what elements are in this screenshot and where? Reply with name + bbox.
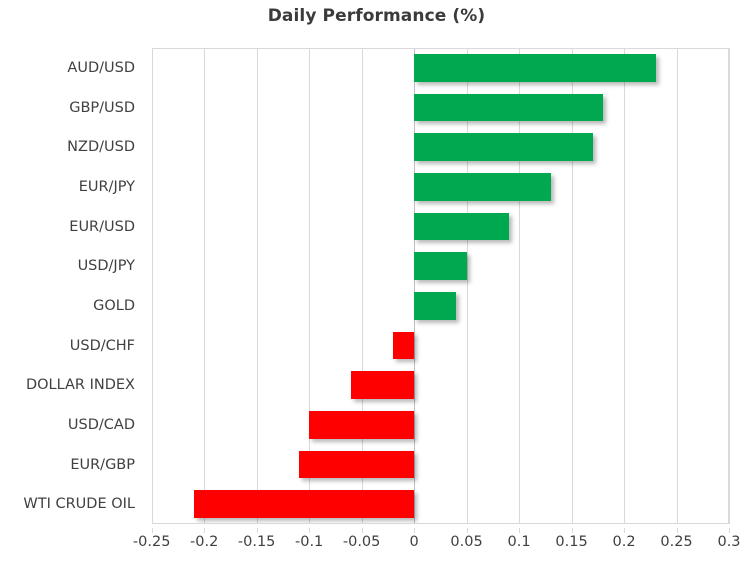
x-tick-mark — [257, 528, 258, 533]
x-tick-mark — [309, 528, 310, 533]
category-axis-labels: AUD/USDGBP/USDNZD/USDEUR/JPYEUR/USDUSD/J… — [0, 48, 143, 524]
bar-aud-usd[interactable] — [414, 54, 655, 82]
bar-gold[interactable] — [414, 292, 456, 320]
bar-gbp-usd[interactable] — [414, 94, 603, 122]
category-label-nzd-usd: NZD/USD — [0, 140, 135, 155]
x-tick-label: 0.05 — [450, 534, 482, 550]
bar-row — [152, 451, 729, 479]
bar-row — [152, 411, 729, 439]
bar-row — [152, 371, 729, 399]
x-tick-label: 0.1 — [508, 534, 531, 550]
bar-row — [152, 54, 729, 82]
x-tick-label: -0.15 — [238, 534, 276, 550]
bar-row — [152, 94, 729, 122]
x-tick-mark — [414, 528, 415, 533]
x-tick-mark — [729, 528, 730, 533]
category-label-gold: GOLD — [0, 299, 135, 314]
x-tick-mark — [204, 528, 205, 533]
bar-wti-crude-oil[interactable] — [194, 490, 414, 518]
x-tick-label: 0.25 — [660, 534, 692, 550]
x-tick-mark — [624, 528, 625, 533]
x-tick-mark — [519, 528, 520, 533]
category-label-aud-usd: AUD/USD — [0, 61, 135, 76]
daily-performance-bar-chart: Daily Performance (%) AUD/USDGBP/USDNZD/… — [0, 0, 753, 568]
x-axis-tick-labels: -0.25-0.2-0.15-0.1-0.0500.050.10.150.20.… — [0, 528, 753, 558]
bar-row — [152, 490, 729, 518]
bar-dollar-index[interactable] — [351, 371, 414, 399]
bar-row — [152, 292, 729, 320]
x-tick-label: 0.3 — [717, 534, 740, 550]
gridline — [729, 48, 730, 524]
category-label-wti-crude-oil: WTI CRUDE OIL — [0, 497, 135, 512]
x-tick-mark — [362, 528, 363, 533]
x-tick-label: 0.15 — [555, 534, 587, 550]
x-tick-label: -0.2 — [190, 534, 218, 550]
bar-row — [152, 213, 729, 241]
category-label-eur-jpy: EUR/JPY — [0, 180, 135, 195]
x-tick-label: 0 — [409, 534, 418, 550]
bar-row — [152, 332, 729, 360]
bar-eur-usd[interactable] — [414, 213, 508, 241]
category-label-usd-cad: USD/CAD — [0, 418, 135, 433]
x-tick-label: -0.05 — [343, 534, 381, 550]
category-label-gbp-usd: GBP/USD — [0, 101, 135, 116]
x-tick-label: 0.2 — [613, 534, 636, 550]
x-tick-mark — [572, 528, 573, 533]
bar-row — [152, 133, 729, 161]
bar-usd-jpy[interactable] — [414, 252, 466, 280]
bar-row — [152, 252, 729, 280]
category-label-usd-jpy: USD/JPY — [0, 259, 135, 274]
category-label-usd-chf: USD/CHF — [0, 339, 135, 354]
bar-usd-cad[interactable] — [309, 411, 414, 439]
bar-row — [152, 173, 729, 201]
plot-area — [152, 48, 729, 524]
category-label-dollar-index: DOLLAR INDEX — [0, 378, 135, 393]
bar-usd-chf[interactable] — [393, 332, 414, 360]
bar-eur-gbp[interactable] — [299, 451, 414, 479]
bar-nzd-usd[interactable] — [414, 133, 592, 161]
x-tick-label: -0.1 — [295, 534, 323, 550]
bar-eur-jpy[interactable] — [414, 173, 550, 201]
category-label-eur-usd: EUR/USD — [0, 220, 135, 235]
x-tick-label: -0.25 — [133, 534, 171, 550]
chart-title: Daily Performance (%) — [0, 6, 753, 26]
x-tick-mark — [677, 528, 678, 533]
x-tick-mark — [467, 528, 468, 533]
category-label-eur-gbp: EUR/GBP — [0, 458, 135, 473]
x-tick-mark — [152, 528, 153, 533]
